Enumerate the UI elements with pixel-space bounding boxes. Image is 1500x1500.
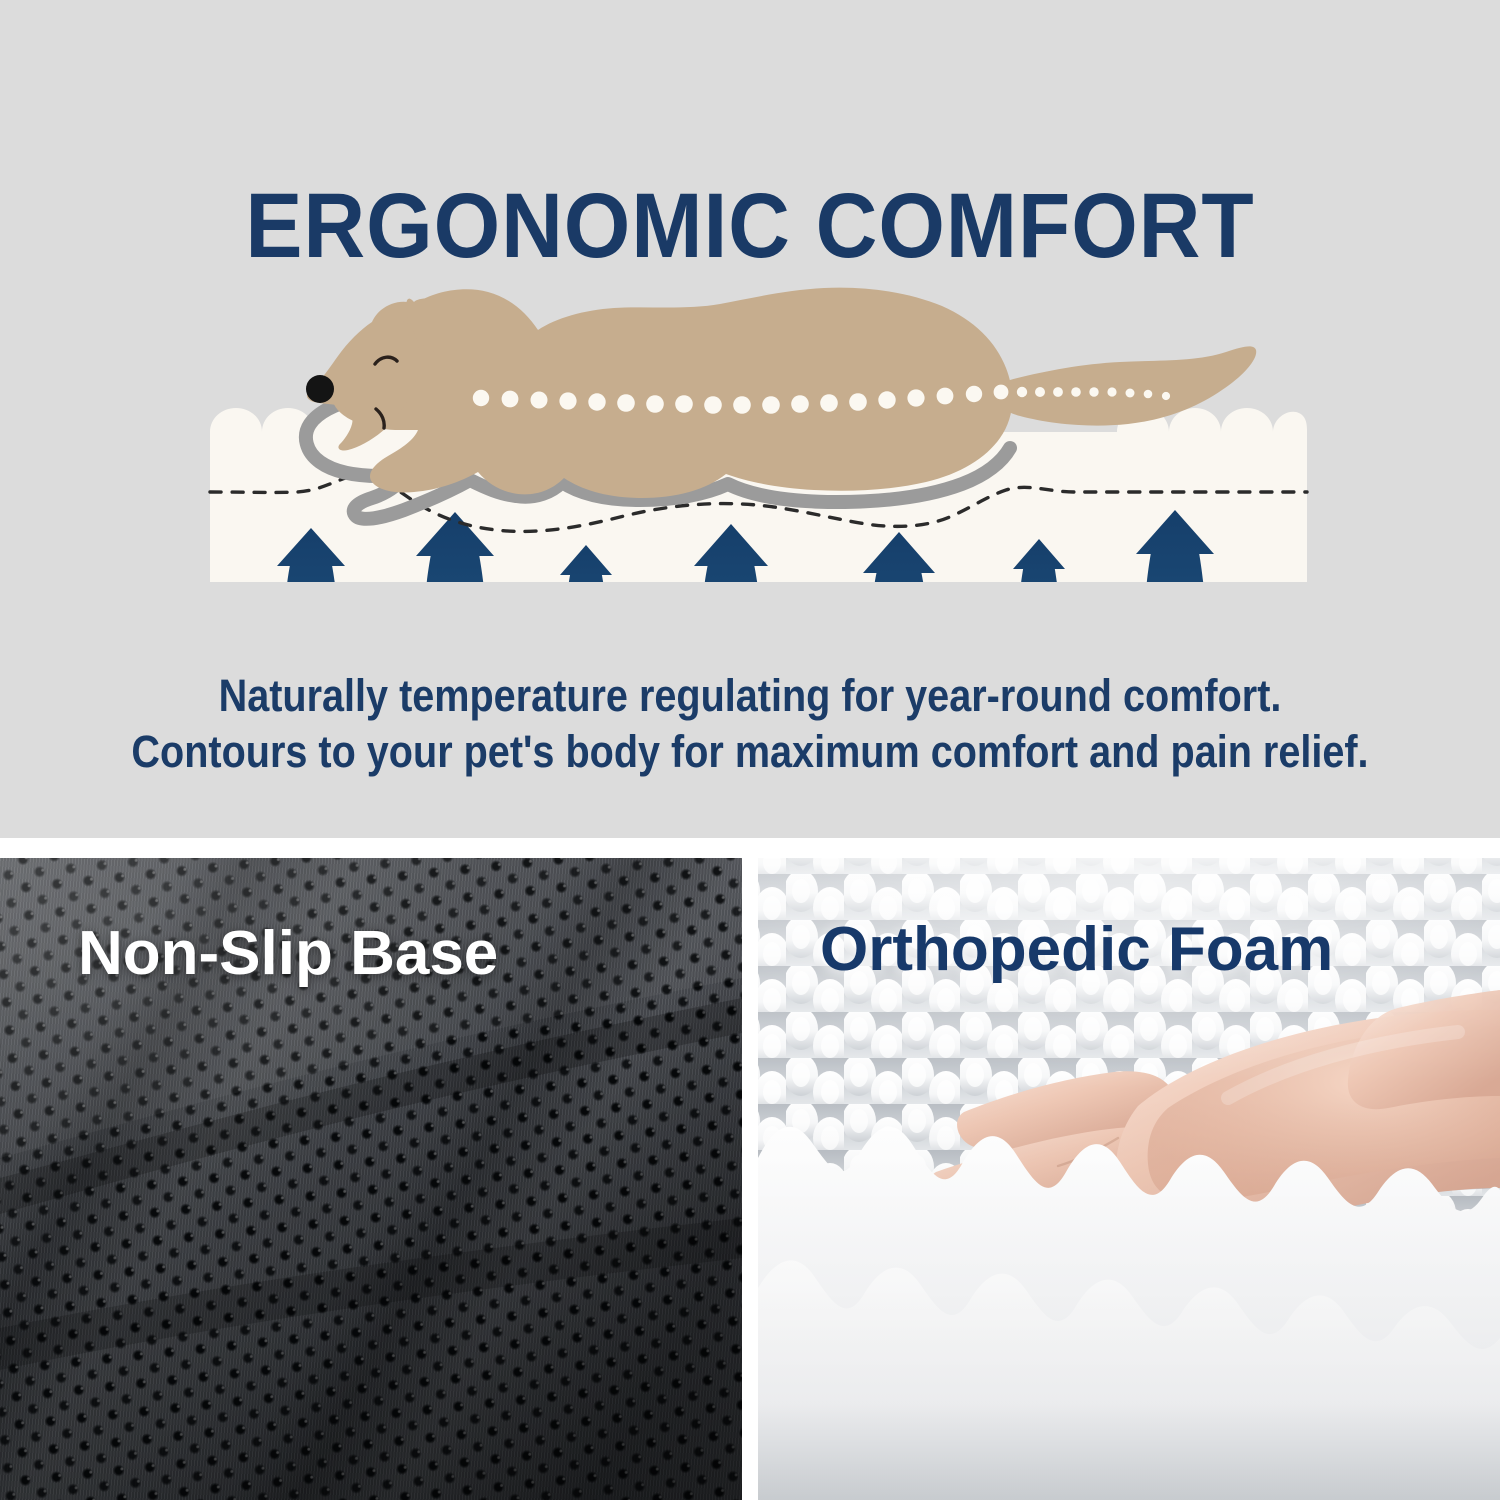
dog-tail: [998, 346, 1257, 425]
hero-section: ERGONOMIC COMFORT: [0, 0, 1500, 838]
feature-panel-orthopedic-foam: Orthopedic Foam: [758, 858, 1500, 1500]
caption-line-2: Contours to your pet's body for maximum …: [90, 724, 1410, 780]
feature-panel-non-slip-base: Non-Slip Base: [0, 858, 742, 1500]
dog-nose: [306, 375, 334, 403]
caption-block: Naturally temperature regulating for yea…: [0, 668, 1500, 780]
vertical-divider: [742, 838, 758, 1500]
panel-label-orthopedic-foam: Orthopedic Foam: [820, 916, 1333, 984]
panel-label-non-slip-base: Non-Slip Base: [78, 920, 498, 988]
infographic-page: ERGONOMIC COMFORT: [0, 0, 1500, 1500]
caption-line-1: Naturally temperature regulating for yea…: [90, 668, 1410, 724]
